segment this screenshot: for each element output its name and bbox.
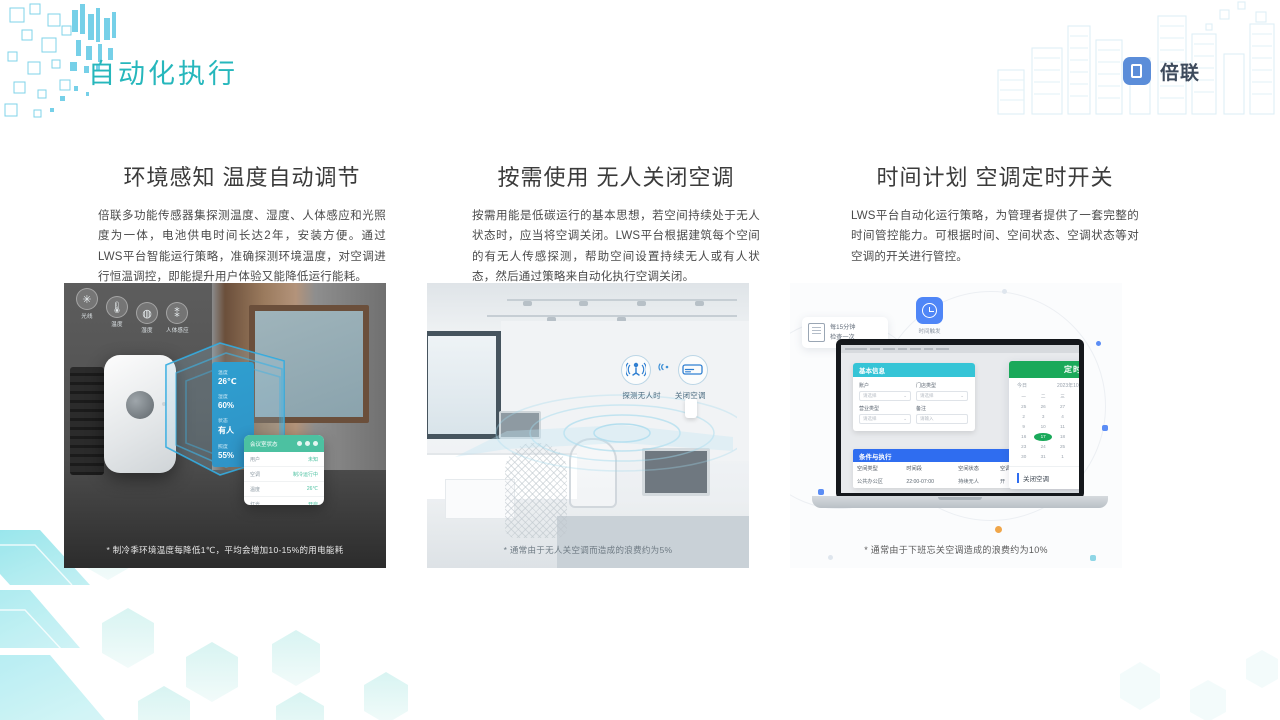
calendar-day[interactable]: 26 (1073, 443, 1079, 451)
list-item: 灯光开启 (244, 497, 324, 505)
ceiling-sensor-device (685, 398, 697, 418)
motion-sensor-icon: ⁑ 人体感应 (166, 302, 189, 334)
presence-detect-icon (621, 355, 651, 385)
calendar-day[interactable]: 12 (1073, 423, 1079, 431)
calendar-grid[interactable]: 一二三四五六日252627282930123456789101112131415… (1009, 393, 1079, 466)
calendar-day[interactable]: 17 (1034, 433, 1051, 441)
document-search-icon (808, 323, 825, 342)
monitor-left (499, 411, 541, 439)
calendar-event-row[interactable]: 关闭空调 22:00 (1009, 466, 1079, 489)
calendar-day[interactable]: 25 (1015, 403, 1032, 411)
figure-3-caption: * 通常由于下班忘关空调造成的浪费约为10% (790, 543, 1122, 556)
sensor-led-icon (162, 402, 166, 406)
calendar-title: 定时计划 (1009, 361, 1079, 378)
time-trigger-badge: 时间触发 (916, 297, 943, 335)
laptop-device: 基本信息 账户 请选择⌄ 门店类型 请选择⌄ 营业类型 (836, 339, 1084, 499)
calendar-day[interactable]: 26 (1034, 403, 1051, 411)
multi-sensor-device (104, 355, 176, 473)
field-remark[interactable]: 备注 请输入 (916, 405, 968, 424)
calendar-day[interactable]: 1 (1054, 453, 1071, 461)
calendar-weekday: 一 (1015, 393, 1032, 401)
figure-2-icon-row: 探测无人时 关闭空调 (609, 355, 719, 401)
office-window (427, 331, 501, 439)
temperature-sensor-icon: 🌡 温度 (106, 296, 128, 328)
column-2-body: 按需用能是低碳运行的基本思想，若空间持续处于无人状态时，应当将空调关闭。LWS平… (466, 206, 766, 288)
column-1-body: 倍联多功能传感器集探测温度、湿度、人体感应和光照度为一体，电池供电时间长达2年，… (92, 206, 392, 288)
field-business-type[interactable]: 营业类型 请选择⌄ (859, 405, 911, 424)
light-sensor-icon: ✳ 光线 (76, 288, 98, 320)
list-item: 用户未知 (244, 452, 324, 467)
calendar-day[interactable]: 4 (1054, 413, 1071, 421)
calendar-day[interactable]: 2 (1015, 413, 1032, 421)
wifi-signal-icon (658, 361, 671, 379)
column-3-body: LWS平台自动化运行策略，为管理者提供了一套完整的时间管控能力。可根据时间、空间… (845, 206, 1145, 267)
app-navbar (841, 345, 1079, 353)
schedule-calendar-panel: 定时计划 今日 2023年10月 ‹ › 一二三四五六日252627282930… (1009, 361, 1079, 489)
calendar-day[interactable]: 19 (1073, 433, 1079, 441)
figure-schedule-dashboard: 每15分钟 检查一次 时间触发 基本信息 (790, 283, 1122, 568)
brand-name: 倍联 (1160, 58, 1200, 85)
brand-logo: 倍联 (1123, 57, 1200, 85)
clock-icon (916, 297, 943, 324)
column-1: 环境感知 温度自动调节 倍联多功能传感器集探测温度、湿度、人体感应和光照度为一体… (60, 160, 424, 288)
meeting-room-screen (249, 305, 369, 423)
field-store-type[interactable]: 门店类型 请选择⌄ (916, 382, 968, 401)
presence-detect-label: 探测无人时 (622, 390, 661, 401)
calendar-weekday: 四 (1073, 393, 1079, 401)
calendar-day[interactable]: 5 (1073, 413, 1079, 421)
column-1-heading: 环境感知 温度自动调节 (60, 160, 424, 192)
window-dots-icon (297, 441, 318, 446)
calendar-day[interactable]: 27 (1054, 403, 1071, 411)
field-account[interactable]: 账户 请选择⌄ (859, 382, 911, 401)
figure-office-photo: 探测无人时 关闭空调 * 通常由于无人关空调而造成的浪费约为5% (427, 283, 749, 568)
calendar-weekday: 三 (1054, 393, 1071, 401)
calendar-day[interactable]: 9 (1015, 423, 1032, 431)
page-title: 自动化执行 (88, 52, 238, 91)
close-ac-label: 关闭空调 (675, 390, 706, 401)
calendar-month-label: 2023年10月 (1057, 382, 1079, 389)
calendar-day[interactable]: 30 (1015, 453, 1032, 461)
room-status-title: 会议室状态 (250, 440, 278, 448)
square-logo-icon (1123, 57, 1151, 85)
form-title: 基本信息 (853, 363, 975, 377)
figure-2-caption: * 通常由于无人关空调而造成的浪费约为5% (427, 544, 749, 556)
list-item: 温度26℃ (244, 482, 324, 497)
sensor-lens-icon (126, 391, 154, 419)
calendar-day[interactable]: 31 (1034, 453, 1051, 461)
calendar-day[interactable]: 23 (1015, 443, 1032, 451)
room-status-card: 会议室状态 用户未知 空调制冷运行中 温度26℃ 灯光开启 (244, 435, 324, 505)
air-conditioner-icon (678, 355, 708, 385)
calendar-today-button[interactable]: 今日 (1017, 382, 1027, 389)
chevron-down-icon: ⌄ (903, 416, 907, 422)
column-3: 时间计划 空调定时开关 LWS平台自动化运行策略，为管理者提供了一套完整的时间管… (813, 160, 1177, 288)
event-name: 关闭空调 (1017, 473, 1049, 483)
decoration-bottom-right (1080, 610, 1280, 720)
time-trigger-label: 时间触发 (916, 327, 943, 335)
calendar-day[interactable]: 16 (1015, 433, 1032, 441)
calendar-day[interactable]: 11 (1054, 423, 1071, 431)
calendar-day[interactable]: 28 (1073, 403, 1079, 411)
humidity-sensor-icon: ◍ 湿度 (136, 302, 158, 334)
column-2: 按需使用 无人关闭空调 按需用能是低碳运行的基本思想，若空间持续处于无人状态时，… (434, 160, 798, 288)
calendar-day[interactable]: 3 (1034, 413, 1051, 421)
monitor-right (642, 448, 710, 496)
chevron-down-icon: ⌄ (960, 393, 964, 399)
column-3-heading: 时间计划 空调定时开关 (813, 160, 1177, 192)
calendar-day[interactable]: 25 (1054, 443, 1071, 451)
figure-1-caption: * 制冷季环境温度每降低1℃，平均会增加10-15%的用电能耗 (64, 544, 386, 556)
chevron-down-icon: ⌄ (903, 393, 907, 399)
calendar-day[interactable]: 24 (1034, 443, 1051, 451)
column-2-heading: 按需使用 无人关闭空调 (434, 160, 798, 192)
calendar-nav[interactable]: 今日 2023年10月 ‹ › (1009, 378, 1079, 393)
figure-sensor-photo: ✳ 光线 🌡 温度 ◍ 湿度 ⁑ 人体感应 (64, 283, 386, 568)
laptop-base (812, 496, 1108, 508)
slide: 自动化执行 倍联 环境感知 温度自动调节 倍联多功能传感器集探测温度、湿度、人体… (0, 0, 1280, 720)
calendar-day[interactable]: 10 (1034, 423, 1051, 431)
calendar-weekday: 二 (1034, 393, 1051, 401)
calendar-day[interactable]: 18 (1054, 433, 1071, 441)
basic-info-form: 基本信息 账户 请选择⌄ 门店类型 请选择⌄ 营业类型 (853, 363, 975, 431)
text-columns: 环境感知 温度自动调节 倍联多功能传感器集探测温度、湿度、人体感应和光照度为一体… (0, 160, 1280, 288)
sensor-capability-icons: ✳ 光线 🌡 温度 ◍ 湿度 ⁑ 人体感应 (76, 288, 189, 334)
tooltip-line-1: 每15分钟 (830, 324, 855, 331)
list-item: 空调制冷运行中 (244, 467, 324, 482)
